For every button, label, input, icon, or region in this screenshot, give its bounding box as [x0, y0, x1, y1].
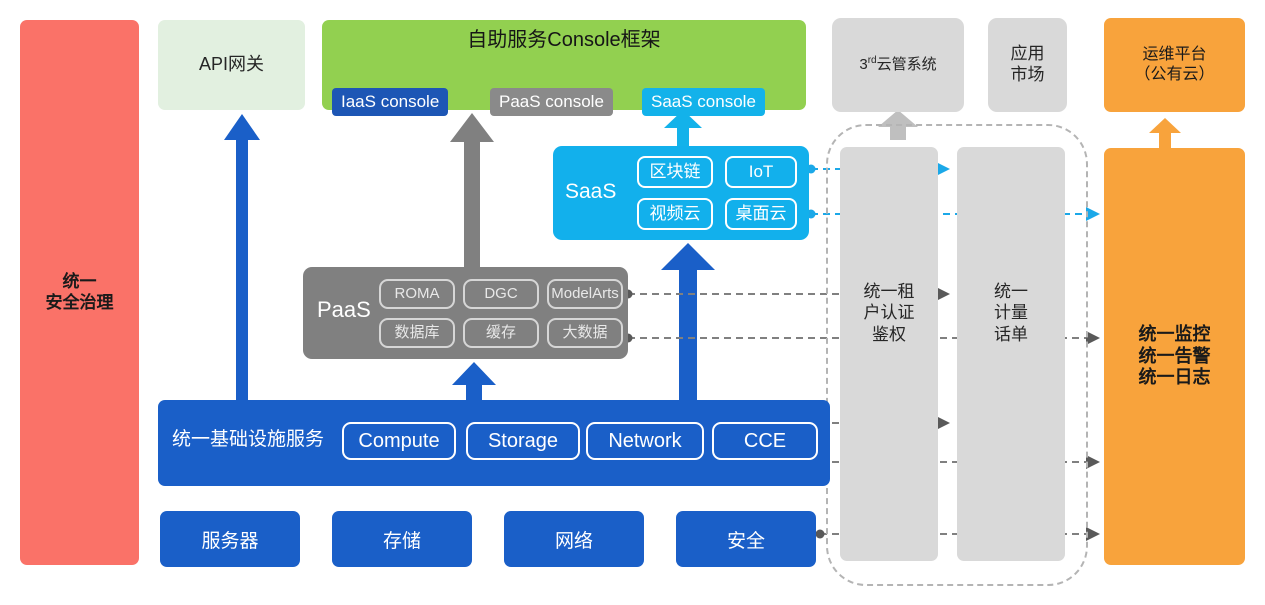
saas-console-chip[interactable]: SaaS console [642, 88, 765, 116]
iaas-console-label: IaaS console [341, 92, 439, 113]
paas-chip-modelarts[interactable]: ModelArts [547, 279, 623, 309]
saas-chip-iot[interactable]: IoT [725, 156, 797, 188]
unified-security-governance-panel[interactable]: 统一 安全治理 [20, 20, 139, 565]
resource-tile-network-label: 网络 [555, 526, 593, 553]
resource-tile-security[interactable]: 安全 [676, 511, 816, 567]
console-framework-title: 自助服务Console框架 [322, 28, 806, 52]
paas-chip-dgc[interactable]: DGC [463, 279, 539, 309]
unified-tenant-auth-label: 统一租 户认证 鉴权 [864, 281, 915, 345]
saas-console-label: SaaS console [651, 92, 756, 113]
paas-chip-database-label: 数据库 [394, 324, 439, 342]
resource-tile-security-label: 安全 [727, 526, 765, 553]
unified-metering-billing-column[interactable]: 统一 计量 话单 [957, 147, 1065, 561]
paas-layer-label: PaaS [317, 297, 371, 324]
unified-tenant-auth-column[interactable]: 统一租 户认证 鉴权 [840, 147, 938, 561]
resource-tile-server-label: 服务器 [201, 526, 258, 553]
unified-infrastructure-service-bar[interactable]: 统一基础设施服务 Compute Storage Network CCE [158, 400, 830, 486]
infra-chip-storage[interactable]: Storage [466, 422, 580, 460]
saas-chip-video-cloud-label: 视频云 [650, 204, 701, 225]
saas-chip-desktop-cloud[interactable]: 桌面云 [725, 198, 797, 230]
ops-platform-label: 运维平台 （公有云） [1134, 45, 1214, 84]
third-party-prefix: 3 [859, 56, 867, 73]
arrow-infra-to-api-gateway [224, 114, 260, 400]
arrow-infra-to-saas [661, 243, 715, 400]
infra-chip-cce-label: CCE [744, 429, 786, 453]
api-gateway-label: API网关 [199, 54, 264, 76]
infra-chip-network-label: Network [608, 429, 681, 453]
paas-console-chip[interactable]: PaaS console [490, 88, 613, 116]
paas-chip-cache[interactable]: 缓存 [463, 318, 539, 348]
ops-monitoring-panel[interactable]: 统一监控 统一告警 统一日志 [1104, 148, 1245, 565]
ops-platform-box[interactable]: 运维平台 （公有云） [1104, 18, 1245, 112]
third-party-rest: 云管系统 [877, 56, 937, 73]
paas-layer-box[interactable]: PaaS ROMA DGC ModelArts 数据库 缓存 大数据 [303, 267, 628, 359]
resource-tile-storage-label: 存储 [383, 526, 421, 553]
ops-monitoring-label: 统一监控 统一告警 统一日志 [1139, 324, 1211, 390]
infra-chip-cce[interactable]: CCE [712, 422, 818, 460]
iaas-console-chip[interactable]: IaaS console [332, 88, 448, 116]
infra-chip-compute[interactable]: Compute [342, 422, 456, 460]
infra-chip-compute-label: Compute [358, 429, 439, 453]
paas-console-label: PaaS console [499, 92, 604, 113]
unified-infrastructure-service-label: 统一基础设施服务 [172, 428, 324, 451]
infra-chip-storage-label: Storage [488, 429, 558, 453]
infra-chip-network[interactable]: Network [586, 422, 704, 460]
api-gateway-box[interactable]: API网关 [158, 20, 305, 110]
saas-chip-desktop-cloud-label: 桌面云 [736, 204, 787, 225]
saas-layer-box[interactable]: SaaS 区块链 IoT 视频云 桌面云 [553, 146, 809, 240]
saas-chip-blockchain[interactable]: 区块链 [637, 156, 713, 188]
unified-metering-billing-label: 统一 计量 话单 [994, 281, 1028, 345]
resource-tile-server[interactable]: 服务器 [160, 511, 300, 567]
paas-chip-big-data-label: 大数据 [562, 324, 607, 342]
resource-tile-storage[interactable]: 存储 [332, 511, 472, 567]
third-party-ordinal-suffix: rd [868, 55, 877, 66]
saas-chip-blockchain-label: 区块链 [650, 162, 701, 183]
paas-chip-database[interactable]: 数据库 [379, 318, 455, 348]
paas-chip-big-data[interactable]: 大数据 [547, 318, 623, 348]
arrow-ops-body-to-ops-platform [1149, 118, 1181, 148]
app-market-label: 应用 市场 [1011, 44, 1045, 85]
paas-chip-modelarts-label: ModelArts [551, 285, 619, 303]
paas-chip-dgc-label: DGC [484, 285, 517, 303]
unified-security-governance-label: 统一 安全治理 [46, 272, 114, 313]
saas-chip-iot-label: IoT [749, 162, 774, 183]
saas-chip-video-cloud[interactable]: 视频云 [637, 198, 713, 230]
self-service-console-framework[interactable]: 自助服务Console框架 IaaS console PaaS console … [322, 20, 806, 110]
paas-chip-cache-label: 缓存 [486, 324, 516, 342]
saas-layer-label: SaaS [565, 179, 616, 205]
resource-tile-network[interactable]: 网络 [504, 511, 644, 567]
paas-chip-roma[interactable]: ROMA [379, 279, 455, 309]
third-party-cloud-management-box[interactable]: 3rd云管系统 [832, 18, 964, 112]
third-party-cloud-management-label: 3rd云管系统 [859, 55, 936, 74]
arrow-paas-to-console [450, 113, 494, 267]
arrow-infra-to-paas [452, 362, 496, 400]
architecture-diagram: 统一 安全治理 API网关 自助服务Console框架 IaaS console… [0, 0, 1265, 605]
paas-chip-roma-label: ROMA [395, 285, 440, 303]
app-market-box[interactable]: 应用 市场 [988, 18, 1067, 112]
